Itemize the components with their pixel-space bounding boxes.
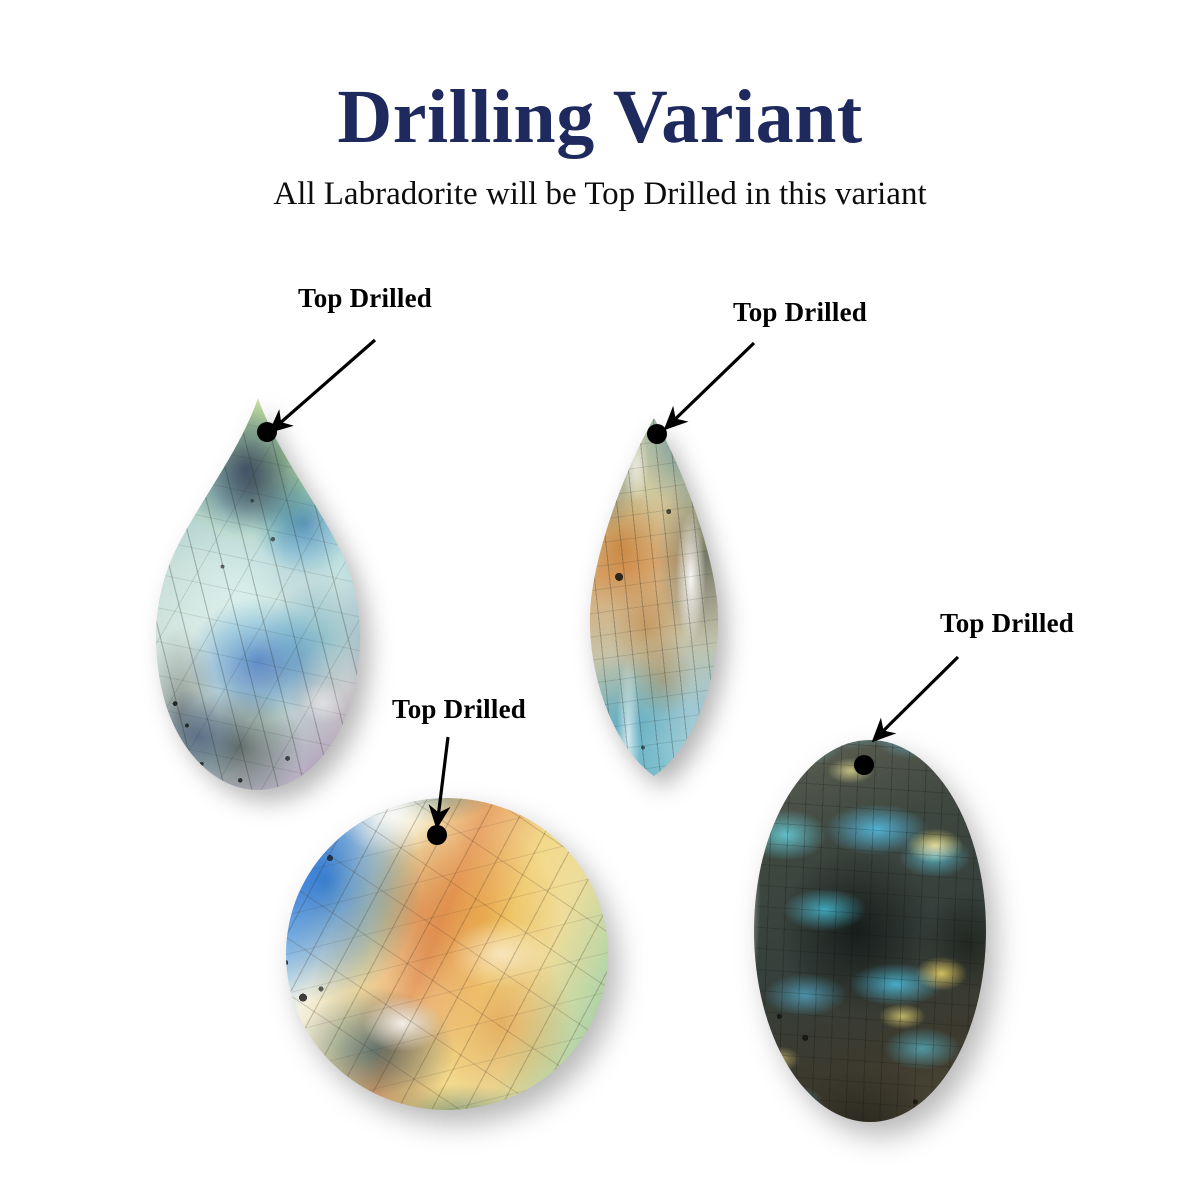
callout-label-round: Top Drilled xyxy=(392,694,526,725)
gemstone-round-surface xyxy=(286,798,608,1110)
page-title: Drilling Variant xyxy=(0,79,1200,155)
callout-label-marquise: Top Drilled xyxy=(733,297,867,328)
round-rim-layer xyxy=(286,798,608,1110)
page-subtitle: All Labradorite will be Top Drilled in t… xyxy=(0,175,1200,215)
gemstone-pear-surface xyxy=(152,398,364,790)
product-infographic-canvas: Drilling Variant All Labradorite will be… xyxy=(0,0,1200,1200)
callout-arrow xyxy=(874,657,958,740)
callout-arrow xyxy=(666,343,754,428)
gemstone-oval-cabochon xyxy=(754,740,986,1122)
gemstone-oval-surface xyxy=(754,740,986,1122)
gemstone-pear-teardrop xyxy=(152,398,364,790)
pear-rim-layer xyxy=(152,398,364,790)
gemstone-marquise xyxy=(588,418,720,776)
gemstone-marquise-surface xyxy=(588,418,720,776)
oval-rim-layer xyxy=(754,740,986,1122)
marquise-rim-layer xyxy=(588,418,720,776)
callout-label-pear: Top Drilled xyxy=(298,283,432,314)
gemstone-round-cabochon xyxy=(286,798,608,1110)
callout-label-oval: Top Drilled xyxy=(940,608,1074,639)
